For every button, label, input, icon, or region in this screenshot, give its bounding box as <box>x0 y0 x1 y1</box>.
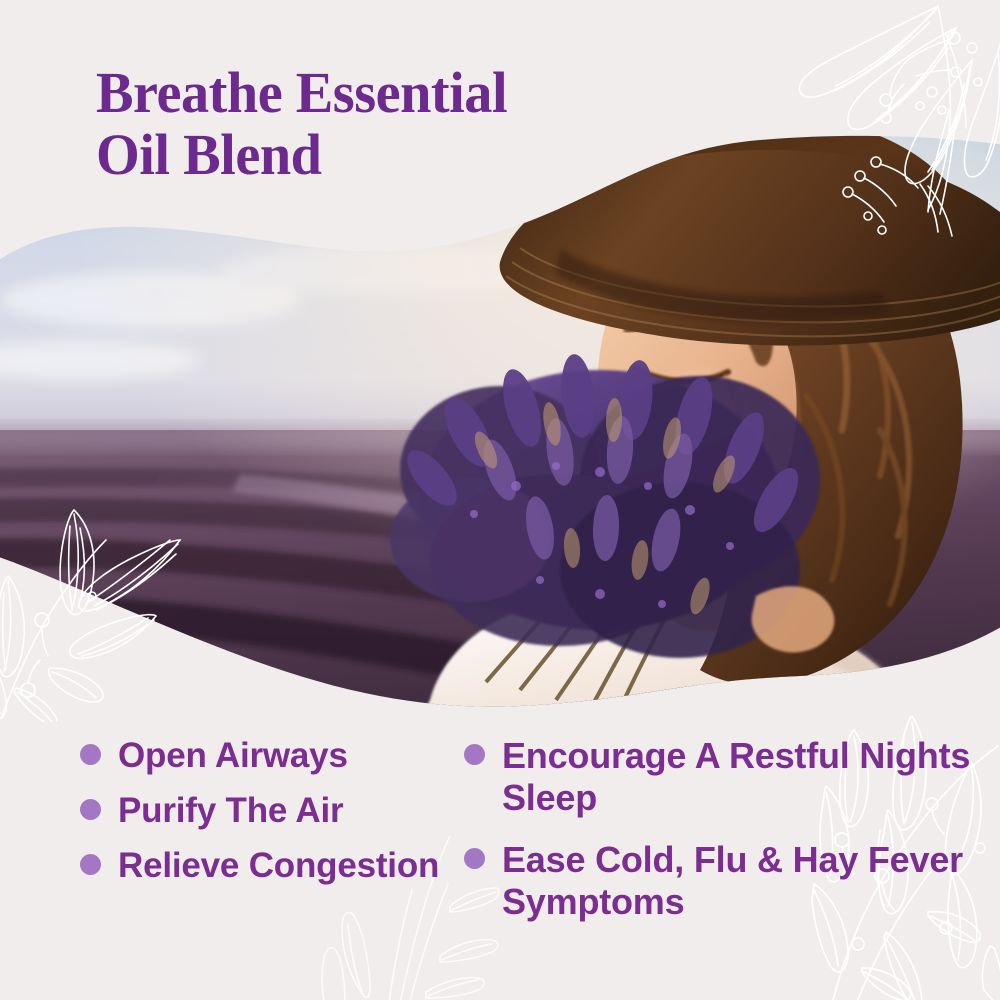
benefits-column-left: Open Airways Purify The Air Relieve Cong… <box>0 735 440 900</box>
list-item: Ease Cold, Flu & Hay Fever Symptoms <box>464 839 980 923</box>
benefits-column-right: Encourage A Restful Nights Sleep Ease Co… <box>440 735 980 943</box>
list-item: Relieve Congestion <box>80 845 440 886</box>
botanical-left-icon <box>0 492 202 722</box>
title-line-2: Oil Blend <box>96 124 717 186</box>
bullet-dot-icon <box>80 854 101 875</box>
benefit-label: Ease Cold, Flu & Hay Fever Symptoms <box>502 839 980 923</box>
bullet-dot-icon <box>464 848 485 869</box>
benefit-label: Encourage A Restful Nights Sleep <box>502 735 980 819</box>
poster-canvas: Breathe Essential Oil Blend <box>0 0 1000 1000</box>
bullet-dot-icon <box>464 744 485 765</box>
list-item: Purify The Air <box>80 790 440 831</box>
benefit-label: Relieve Congestion <box>118 845 439 886</box>
title-line-1: Breathe Essential <box>96 62 717 124</box>
benefit-label: Purify The Air <box>118 790 343 831</box>
bullet-dot-icon <box>80 744 101 765</box>
benefits-section: Open Airways Purify The Air Relieve Cong… <box>0 735 1000 943</box>
bullet-dot-icon <box>80 799 101 820</box>
page-title: Breathe Essential Oil Blend <box>96 62 736 186</box>
benefit-label: Open Airways <box>118 735 348 776</box>
list-item: Encourage A Restful Nights Sleep <box>464 735 980 819</box>
list-item: Open Airways <box>80 735 440 776</box>
botanical-top-right-icon <box>760 0 1000 238</box>
